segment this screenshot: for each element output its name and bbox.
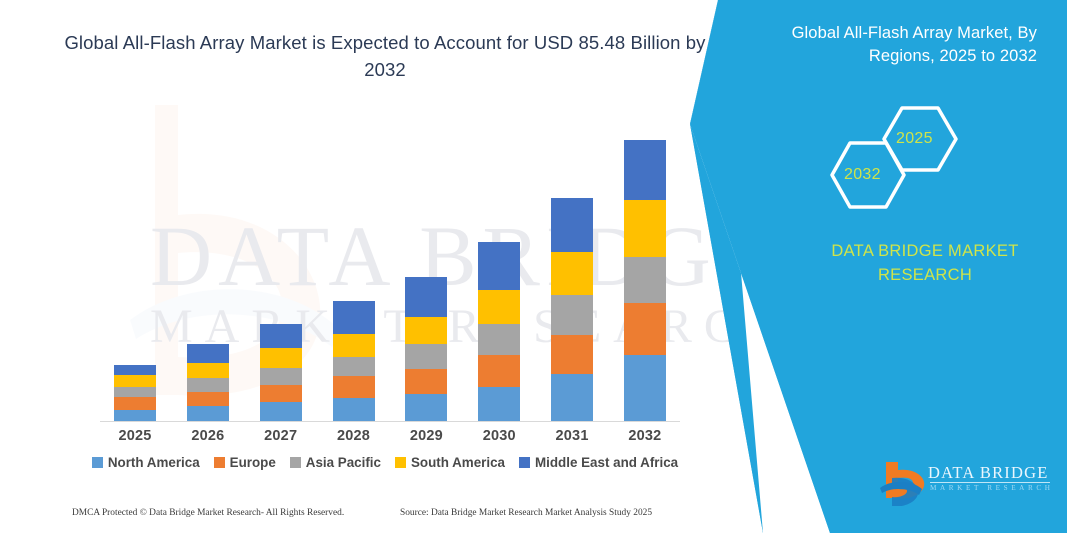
bar-segment [187,406,229,421]
dmca-notice: DMCA Protected © Data Bridge Market Rese… [72,508,344,518]
bar-segment [551,295,593,335]
bar-segment [624,200,666,256]
x-tick-2028: 2028 [319,428,389,444]
stacked-bar-chart [100,140,680,421]
bar-column-2029 [391,140,461,421]
bar-segment [187,392,229,407]
bar-segment [551,252,593,295]
bar-segment [478,355,520,386]
bar-segment [114,410,156,421]
bar-segment [624,355,666,421]
x-axis-tick-labels: 20252026202720282029203020312032 [100,428,680,444]
bar-segment [624,257,666,304]
stacked-bar [187,344,229,421]
bar-segment [260,368,302,385]
stacked-bar [478,242,520,421]
logo-name: DATA BRIDGE [928,463,1049,483]
legend-item[interactable]: South America [395,455,505,470]
bar-column-2027 [246,140,316,421]
chart-legend: North AmericaEuropeAsia PacificSouth Ame… [70,455,700,470]
bar-segment [114,365,156,375]
brand-name-line-2: RESEARCH [800,264,1050,288]
x-tick-2025: 2025 [100,428,170,444]
bar-segment [478,387,520,421]
legend-label: Europe [230,455,276,470]
legend-swatch-icon [519,457,530,468]
bar-segment [551,374,593,421]
legend-swatch-icon [92,457,103,468]
x-tick-2027: 2027 [246,428,316,444]
legend-label: North America [108,455,200,470]
legend-label: South America [411,455,505,470]
bar-segment [405,369,447,394]
stacked-bar [114,365,156,421]
bar-column-2031 [537,140,607,421]
legend-swatch-icon [290,457,301,468]
stacked-bar [551,198,593,421]
brand-name-line-1: DATA BRIDGE MARKET [800,240,1050,264]
x-tick-2032: 2032 [610,428,680,444]
bar-segment [114,397,156,409]
logo-tagline: MARKET RESEARCH [930,484,1054,492]
bar-segment [624,303,666,355]
bar-column-2025 [100,140,170,421]
hexagon-label-2025: 2025 [896,130,933,148]
legend-item[interactable]: North America [92,455,200,470]
bar-segment [260,385,302,403]
logo-divider [930,482,1050,483]
bar-segment [624,140,666,200]
bar-segment [114,387,156,397]
hexagon-label-2032: 2032 [844,166,881,184]
bar-segment [478,242,520,290]
bar-segment [260,324,302,348]
bar-segment [405,317,447,344]
bar-segment [478,290,520,324]
hexagon-group: 2025 2032 [828,95,1028,230]
legend-swatch-icon [395,457,406,468]
bar-segment [260,348,302,368]
legend-item[interactable]: Europe [214,455,276,470]
bar-segment [187,378,229,392]
bar-column-2028 [319,140,389,421]
bar-segment [187,363,229,379]
chart-title: Global All-Flash Array Market is Expecte… [60,30,710,84]
stacked-bar [405,277,447,421]
x-tick-2030: 2030 [464,428,534,444]
bar-segment [333,334,375,357]
bar-column-2026 [173,140,243,421]
bar-segment [551,198,593,252]
x-tick-2031: 2031 [537,428,607,444]
stacked-bar [624,140,666,421]
legend-label: Middle East and Africa [535,455,678,470]
bar-segment [405,277,447,317]
panel-title: Global All-Flash Array Market, By Region… [747,22,1037,69]
stacked-bar [333,301,375,421]
bar-segment [187,344,229,363]
bar-segment [405,344,447,369]
source-note: Source: Data Bridge Market Research Mark… [400,508,652,518]
bar-segment [551,335,593,375]
data-bridge-logo: DATA BRIDGE MARKET RESEARCH [878,458,1058,506]
bar-segment [114,375,156,386]
x-axis-line [100,421,680,422]
legend-swatch-icon [214,457,225,468]
bar-column-2030 [464,140,534,421]
bar-segment [405,394,447,421]
x-tick-2026: 2026 [173,428,243,444]
bar-segment [333,301,375,333]
bar-segment [478,324,520,355]
bar-segment [333,357,375,377]
bar-column-2032 [610,140,680,421]
bar-segment [260,402,302,421]
brand-name: DATA BRIDGE MARKET RESEARCH [800,240,1050,288]
legend-item[interactable]: Asia Pacific [290,455,381,470]
legend-item[interactable]: Middle East and Africa [519,455,678,470]
footer: DMCA Protected © Data Bridge Market Rese… [0,508,720,528]
infographic-canvas: DATA BRIDGE MARKET RESEARCH Global All-F… [0,0,1067,533]
x-tick-2029: 2029 [391,428,461,444]
bar-segment [333,398,375,421]
bar-segment [333,376,375,398]
legend-label: Asia Pacific [306,455,381,470]
stacked-bar [260,324,302,421]
